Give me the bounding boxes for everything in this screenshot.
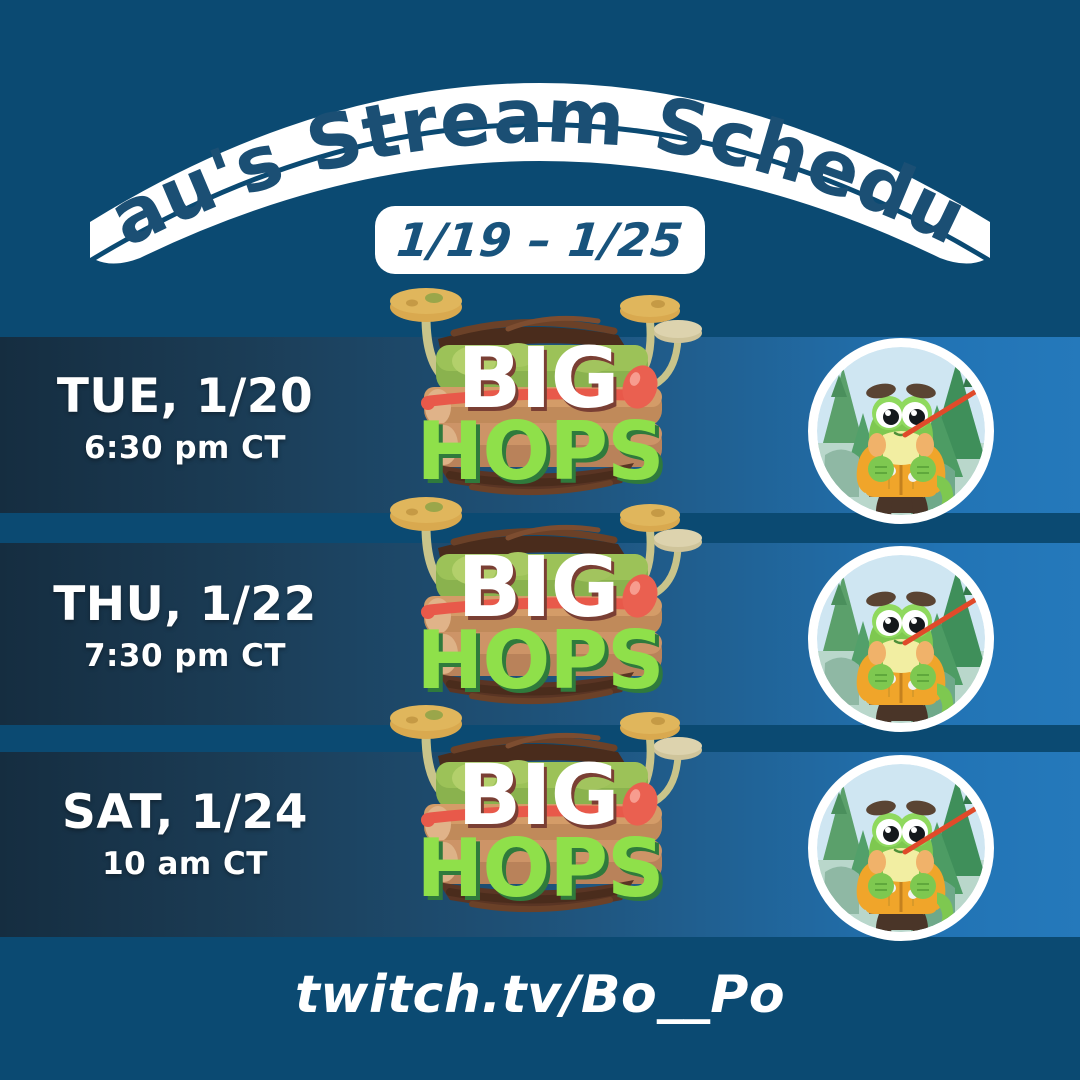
- date-range-text: 1/19 – 1/25: [394, 213, 686, 267]
- avatar-3: [808, 755, 994, 941]
- stream-schedule-poster: Beau's Stream Schedule! 1/19 – 1/25 TUE,…: [0, 0, 1080, 1080]
- mushroom-icon-right-b: [654, 320, 702, 385]
- schedule-day-1: TUE, 1/20: [0, 372, 370, 421]
- mushroom-icon-right-b: [654, 737, 702, 802]
- schedule-entry-1: TUE, 1/20 6:30 pm CT: [0, 372, 370, 466]
- avatar-image-1: [817, 347, 985, 515]
- mushroom-icon-right-b: [654, 529, 702, 594]
- avatar-image-3: [817, 764, 985, 932]
- date-range-pill: 1/19 – 1/25: [375, 206, 705, 274]
- avatar-image-2: [817, 555, 985, 723]
- schedule-entry-3: SAT, 1/24 10 am CT: [0, 788, 370, 882]
- game-logo-hops: HOPS: [416, 614, 663, 707]
- schedule-time-2: 7:30 pm CT: [0, 638, 370, 674]
- avatar-2: [808, 546, 994, 732]
- twitch-channel-link[interactable]: twitch.tv/Bo__Po: [0, 965, 1080, 1025]
- schedule-time-1: 6:30 pm CT: [0, 430, 370, 466]
- schedule-day-2: THU, 1/22: [0, 580, 370, 629]
- game-logo-3: BIG BIG HOPS HOPS: [378, 700, 704, 948]
- schedule-entry-2: THU, 1/22 7:30 pm CT: [0, 580, 370, 674]
- game-logo-hops: HOPS: [416, 405, 663, 498]
- game-logo-hops: HOPS: [416, 822, 663, 915]
- avatar-1: [808, 338, 994, 524]
- schedule-time-3: 10 am CT: [0, 846, 370, 882]
- schedule-day-3: SAT, 1/24: [0, 788, 370, 837]
